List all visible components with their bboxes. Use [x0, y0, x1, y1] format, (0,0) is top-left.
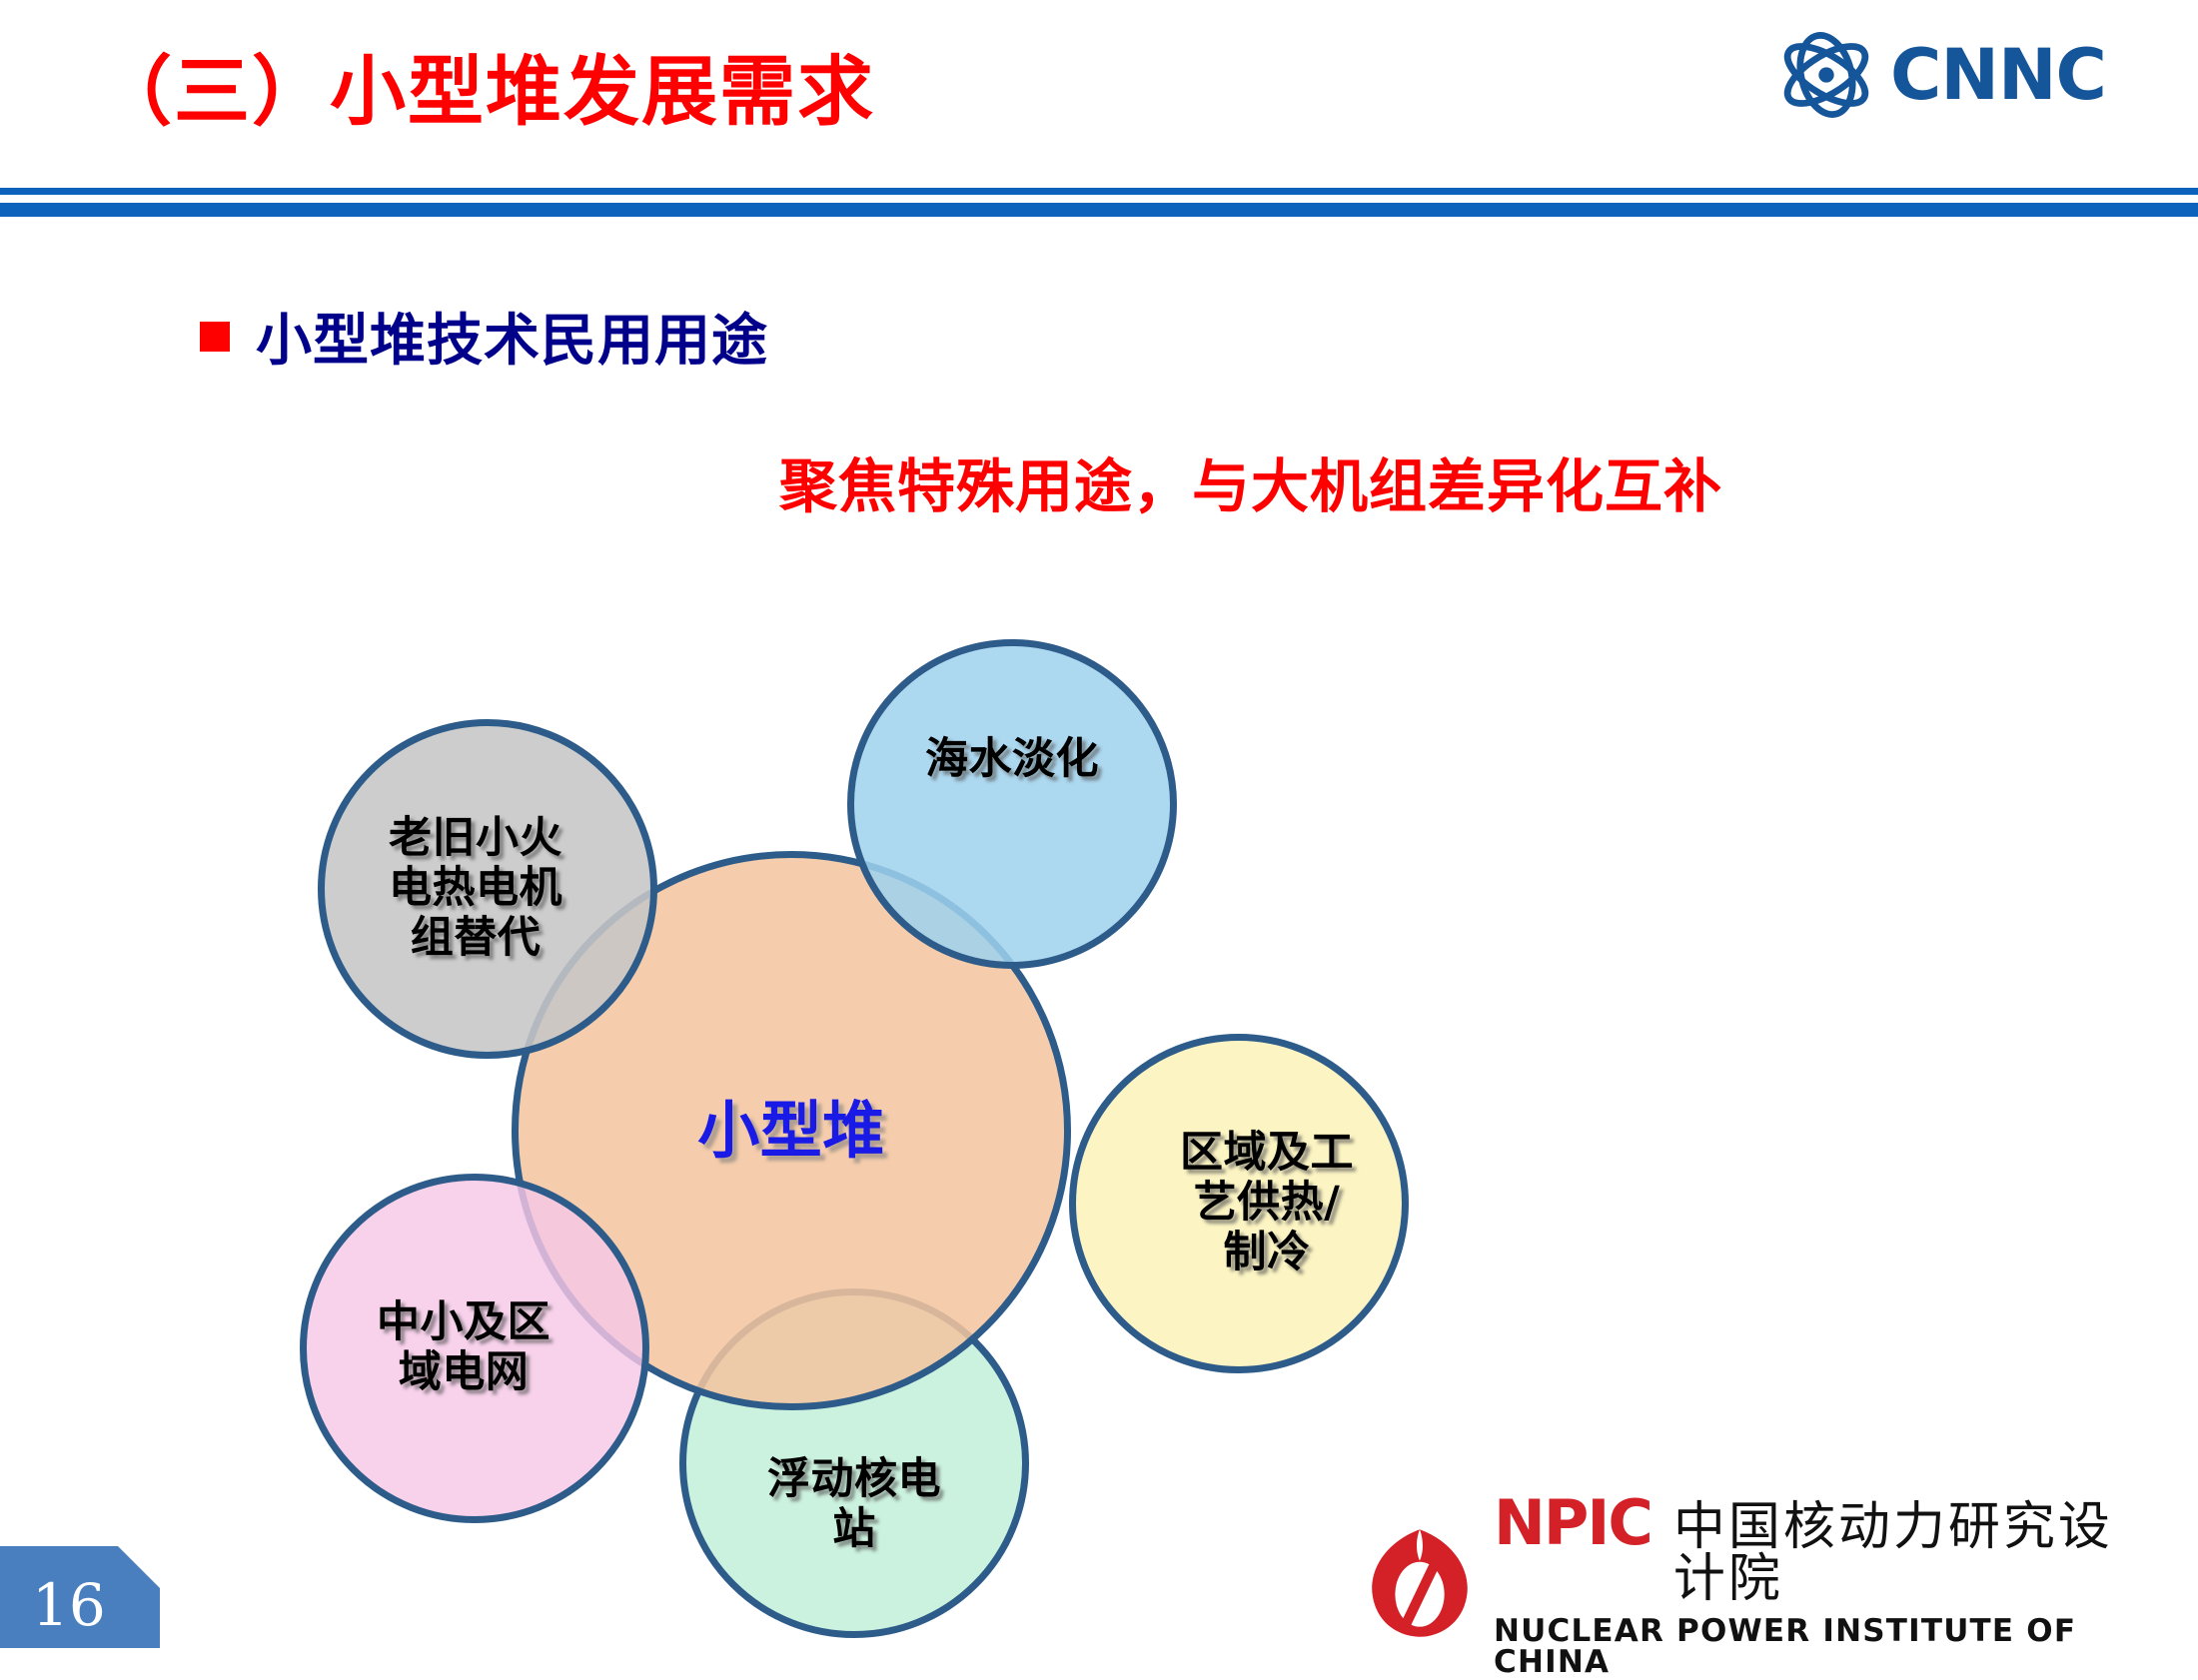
bubble-label-heating-cooling: 区域及工 艺供热/ 制冷 [1124, 1129, 1354, 1278]
header-rule-thin [0, 188, 2198, 195]
bubble-heating-cooling: 区域及工 艺供热/ 制冷 [1069, 1034, 1409, 1373]
cnnc-logo: CNNC [1778, 20, 2138, 130]
page-number-badge: 16 [0, 1546, 160, 1648]
npic-chinese-name: 中国核动力研究设计院 [1673, 1501, 2163, 1605]
bullet-row: 小型堆技术民用用途 [200, 296, 768, 377]
atom-icon [1778, 27, 1874, 123]
npic-abbreviation: NPIC [1494, 1492, 1651, 1554]
bubble-label-desalination: 海水淡化 [925, 735, 1099, 873]
page-number: 16 [0, 1555, 106, 1639]
bubble-label-center-smr: 小型堆 [697, 1095, 885, 1167]
npic-english-name: NUCLEAR POWER INSTITUTE OF CHINA [1494, 1616, 2163, 1678]
bubble-desalination: 海水淡化 [847, 639, 1177, 969]
bubble-label-old-thermal-replacement: 老旧小火 电热电机 组替代 [389, 814, 586, 964]
bullet-label: 小型堆技术民用用途 [256, 296, 768, 377]
subtitle-text: 聚焦特殊用途，与大机组差异化互补 [779, 439, 1722, 523]
bubble-label-regional-grid: 中小及区 域电网 [377, 1298, 572, 1398]
bubble-regional-grid: 中小及区 域电网 [300, 1174, 649, 1523]
header-rule-thick [0, 203, 2198, 217]
npic-flame-emblem-icon [1364, 1527, 1476, 1643]
npic-text-block: NPIC 中国核动力研究设计院 NUCLEAR POWER INSTITUTE … [1494, 1492, 2163, 1678]
slide-header: （三）小型堆发展需求 CNNC [0, 0, 2198, 190]
page-title: （三）小型堆发展需求 [96, 30, 875, 140]
cnnc-wordmark: CNNC [1890, 40, 2106, 110]
venn-diagram: 区域及工 艺供热/ 制冷 浮动核电 站 小型堆 海水淡化 老旧小火 电热电机 组… [280, 609, 1439, 1638]
npic-logo: NPIC 中国核动力研究设计院 NUCLEAR POWER INSTITUTE … [1364, 1526, 2163, 1644]
square-bullet-icon [200, 322, 230, 352]
npic-name-row: NPIC 中国核动力研究设计院 [1494, 1492, 2163, 1605]
bubble-old-thermal-replacement: 老旧小火 电热电机 组替代 [318, 719, 657, 1059]
